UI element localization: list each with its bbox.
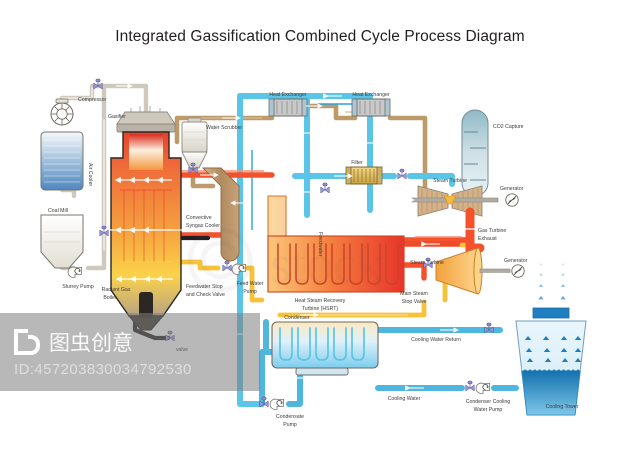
feed-water-pump-symbol — [232, 264, 246, 274]
label-main-steam-stop-valve-2: Stop Valve — [402, 299, 427, 305]
valve-cooling-water[interactable] — [466, 381, 474, 391]
label-condensate-pump-1: Condensate — [276, 414, 304, 420]
label-cooling-water: Cooling Water — [388, 396, 421, 402]
valve-feedwater-line[interactable] — [321, 183, 329, 193]
air-cooler-symbol — [41, 132, 83, 190]
label-filter: Filter — [351, 160, 363, 166]
label-steam-turbine-2: Steam Turbine — [410, 260, 444, 266]
slurry-pump-symbol — [68, 267, 82, 277]
condenser-cooling-water-pump-symbol — [476, 383, 490, 393]
compressor-symbol — [51, 99, 73, 125]
label-feedwater-stop-check-valve-2: and Check Valve — [186, 292, 225, 298]
label-feed-water-pump-1: Feed Water — [237, 281, 264, 287]
generator-1-symbol — [506, 194, 518, 206]
condenser-symbol — [272, 322, 378, 375]
label-main-steam-stop-valve-1: Main Steam — [400, 291, 428, 297]
label-heat-exchanger-1: Heat Exchanger — [269, 92, 306, 98]
label-gas-turbine-exhaust-1: Gas Turbine — [478, 228, 506, 234]
label-condenser-cooling-water-pump-2: Water Pump — [474, 407, 503, 413]
water-scrubber-symbol — [182, 118, 207, 168]
label-condenser-cooling-water-pump-1: Condenser Cooling — [466, 399, 511, 405]
watermark-overlay: 图虫创意 ID:457203830034792530 — [0, 313, 260, 391]
tuchong-logo-icon — [14, 329, 40, 355]
label-co2-capture: CO2 Capture — [493, 124, 524, 130]
label-gasifier: Gasifier — [108, 114, 126, 120]
label-generator-1: Generator — [500, 186, 524, 192]
label-radiant-gas-boiler-2: Boiler — [103, 295, 117, 301]
label-feedwater-stop-check-valve-1: Feedwater Stop — [186, 284, 223, 290]
heat-exchanger-1-symbol — [269, 99, 307, 116]
label-air-cooler: Air Cooler — [87, 163, 93, 186]
valve-filter-outlet[interactable] — [398, 169, 406, 179]
label-water-scrubber: Water Scrubber — [206, 125, 242, 131]
label-hsrt-2: Turbine (HSRT) — [302, 306, 339, 312]
label-compressor: Compressor — [78, 97, 107, 103]
hsrt-symbol — [268, 196, 404, 292]
valve-feedwater-stop-check[interactable] — [223, 261, 231, 271]
label-gas-turbine-exhaust-2: Exhaust — [478, 236, 497, 242]
coal-mill-symbol — [41, 215, 83, 268]
label-slurry-pump: Slurrey Pump — [62, 284, 94, 290]
label-convective-syngas-cooler-2: Syngas Cooler — [186, 223, 220, 229]
label-steam-turbine-1: Steam Turbine — [433, 178, 467, 184]
heat-exchanger-2-symbol — [352, 99, 390, 116]
label-hsrt-1: Heat Steam Recovery — [295, 298, 346, 304]
label-feed-water-pump-2: Pump — [243, 289, 257, 295]
label-coal-mill: Coal Mill — [48, 208, 68, 214]
condensate-pump-symbol — [270, 399, 284, 409]
label-radiant-gas-boiler-1: Radiant Gas — [102, 287, 131, 293]
cooling-tower-symbol — [516, 263, 586, 415]
label-cooling-water-return: Cooling Water Return — [411, 337, 461, 343]
watermark-id: ID:457203830034792530 — [14, 361, 192, 378]
label-generator-2: Generator — [504, 258, 528, 264]
label-heat-exchanger-2: Heat Exchanger — [352, 92, 389, 98]
label-feedwater: Feedwater — [317, 232, 323, 257]
watermark-brand: 图虫创意 — [49, 327, 133, 357]
generator-2-symbol — [512, 265, 524, 277]
label-cooling-tower: Cooling Tower — [546, 404, 579, 410]
label-condensate-pump-2: Pump — [283, 422, 297, 428]
label-condenser: Condenser — [284, 315, 310, 321]
diagram-canvas: Integrated Gassification Combined Cycle … — [0, 0, 640, 452]
filter-symbol — [346, 167, 382, 184]
label-convective-syngas-cooler-1: Convective — [186, 215, 212, 221]
